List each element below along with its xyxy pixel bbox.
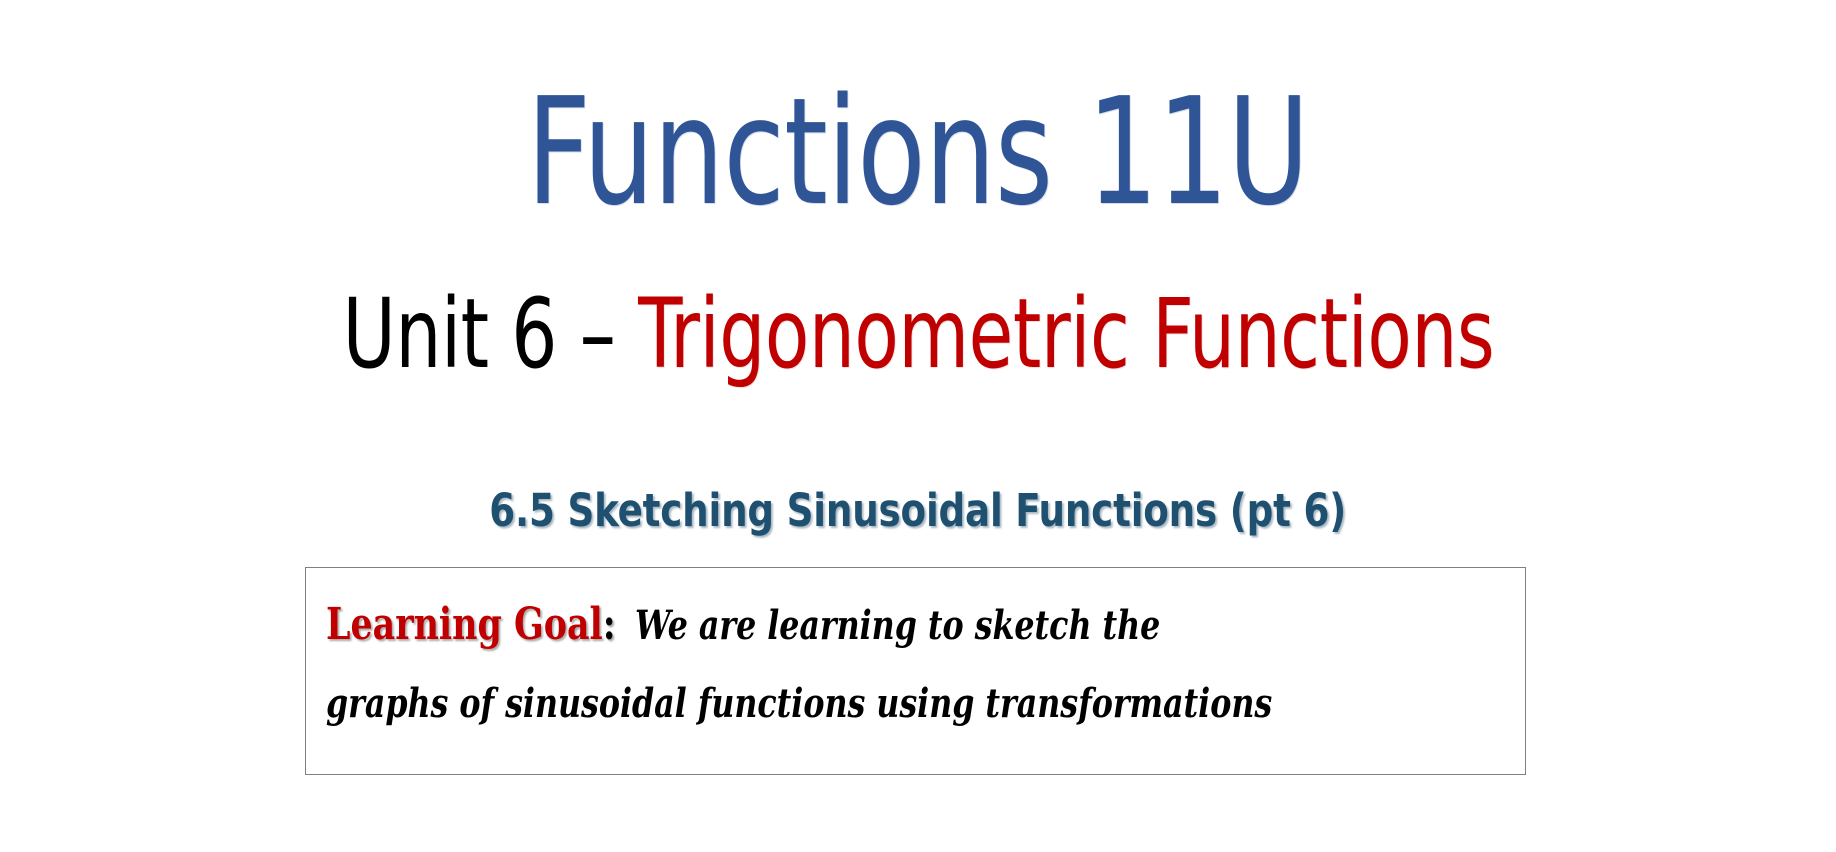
learning-goal-line-1: Learning Goal:We are learning to sketch … [326, 586, 1367, 665]
subtitle-row: Unit 6 – Trigonometric Functions [0, 286, 1836, 382]
learning-goal-text-line-2: graphs of sinusoidal functions using tra… [326, 680, 1272, 727]
title-row: Functions 11U [0, 78, 1836, 226]
page-title: Functions 11U [527, 78, 1309, 226]
unit-label: Unit 6 – [342, 278, 637, 390]
learning-goal-box: Learning Goal:We are learning to sketch … [305, 567, 1526, 775]
unit-subtitle: Unit 6 – Trigonometric Functions [342, 286, 1494, 382]
learning-goal-content: Learning Goal:We are learning to sketch … [326, 586, 1509, 743]
learning-goal-label: Learning Goal [326, 599, 603, 650]
unit-topic-label: Trigonometric Functions [638, 278, 1494, 390]
section-heading-row: 6.5 Sketching Sinusoidal Functions (pt 6… [0, 488, 1836, 533]
learning-goal-line-2: graphs of sinusoidal functions using tra… [326, 665, 1367, 743]
learning-goal-text-line-1: We are learning to sketch the [635, 602, 1160, 649]
section-heading: 6.5 Sketching Sinusoidal Functions (pt 6… [490, 488, 1347, 533]
slide-canvas: Functions 11U Unit 6 – Trigonometric Fun… [0, 0, 1836, 852]
learning-goal-colon: : [603, 599, 616, 650]
